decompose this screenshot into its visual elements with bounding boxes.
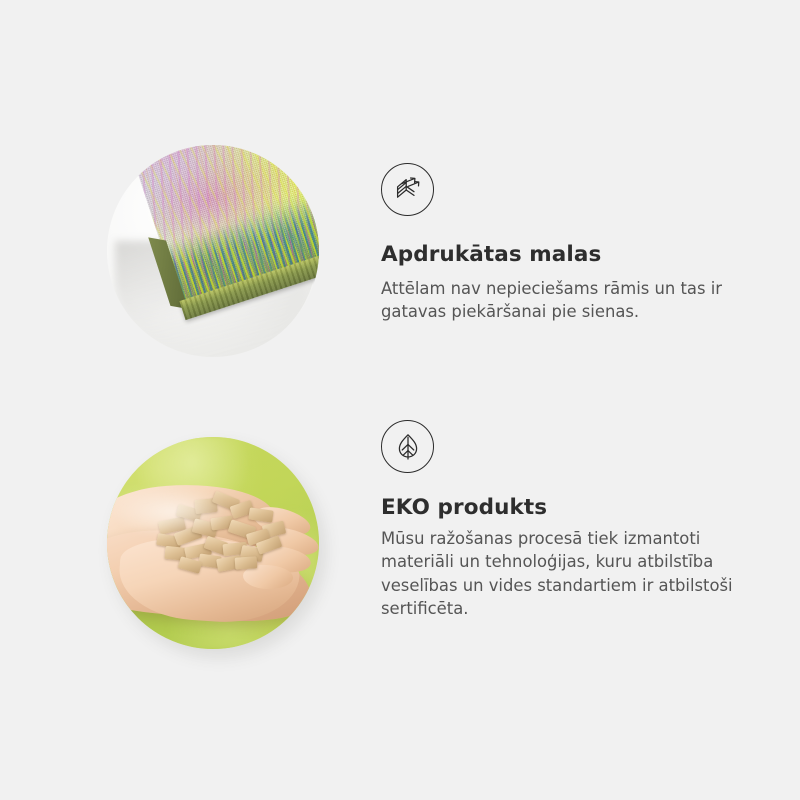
feature-description: Attēlam nav nepieciešams rāmis un tas ir… — [381, 277, 741, 324]
canvas-print-corner-photo — [107, 145, 319, 357]
leaf-icon — [381, 420, 434, 473]
eco-photo-scene — [107, 437, 319, 649]
product-features-page: Apdrukātas malas Attēlam nav nepieciešam… — [0, 0, 800, 800]
printed-edges-icon — [381, 163, 434, 216]
printed-edges-content: Apdrukātas malas Attēlam nav nepieciešam… — [381, 163, 761, 324]
feature-title: Apdrukātas malas — [381, 242, 761, 268]
feature-description: Mūsu ražošanas procesā tiek izmantoti ma… — [381, 527, 741, 621]
feature-eco-product: EKO produkts Mūsu ražošanas procesā tiek… — [0, 420, 800, 680]
feature-title: EKO produkts — [381, 495, 761, 521]
eco-product-content: EKO produkts Mūsu ražošanas procesā tiek… — [381, 420, 761, 621]
canvas-photo-scene — [107, 145, 319, 357]
hands-holding-wood-chips-photo — [107, 437, 319, 649]
wood-chip — [235, 556, 258, 570]
feature-printed-edges: Apdrukātas malas Attēlam nav nepieciešam… — [0, 130, 800, 390]
